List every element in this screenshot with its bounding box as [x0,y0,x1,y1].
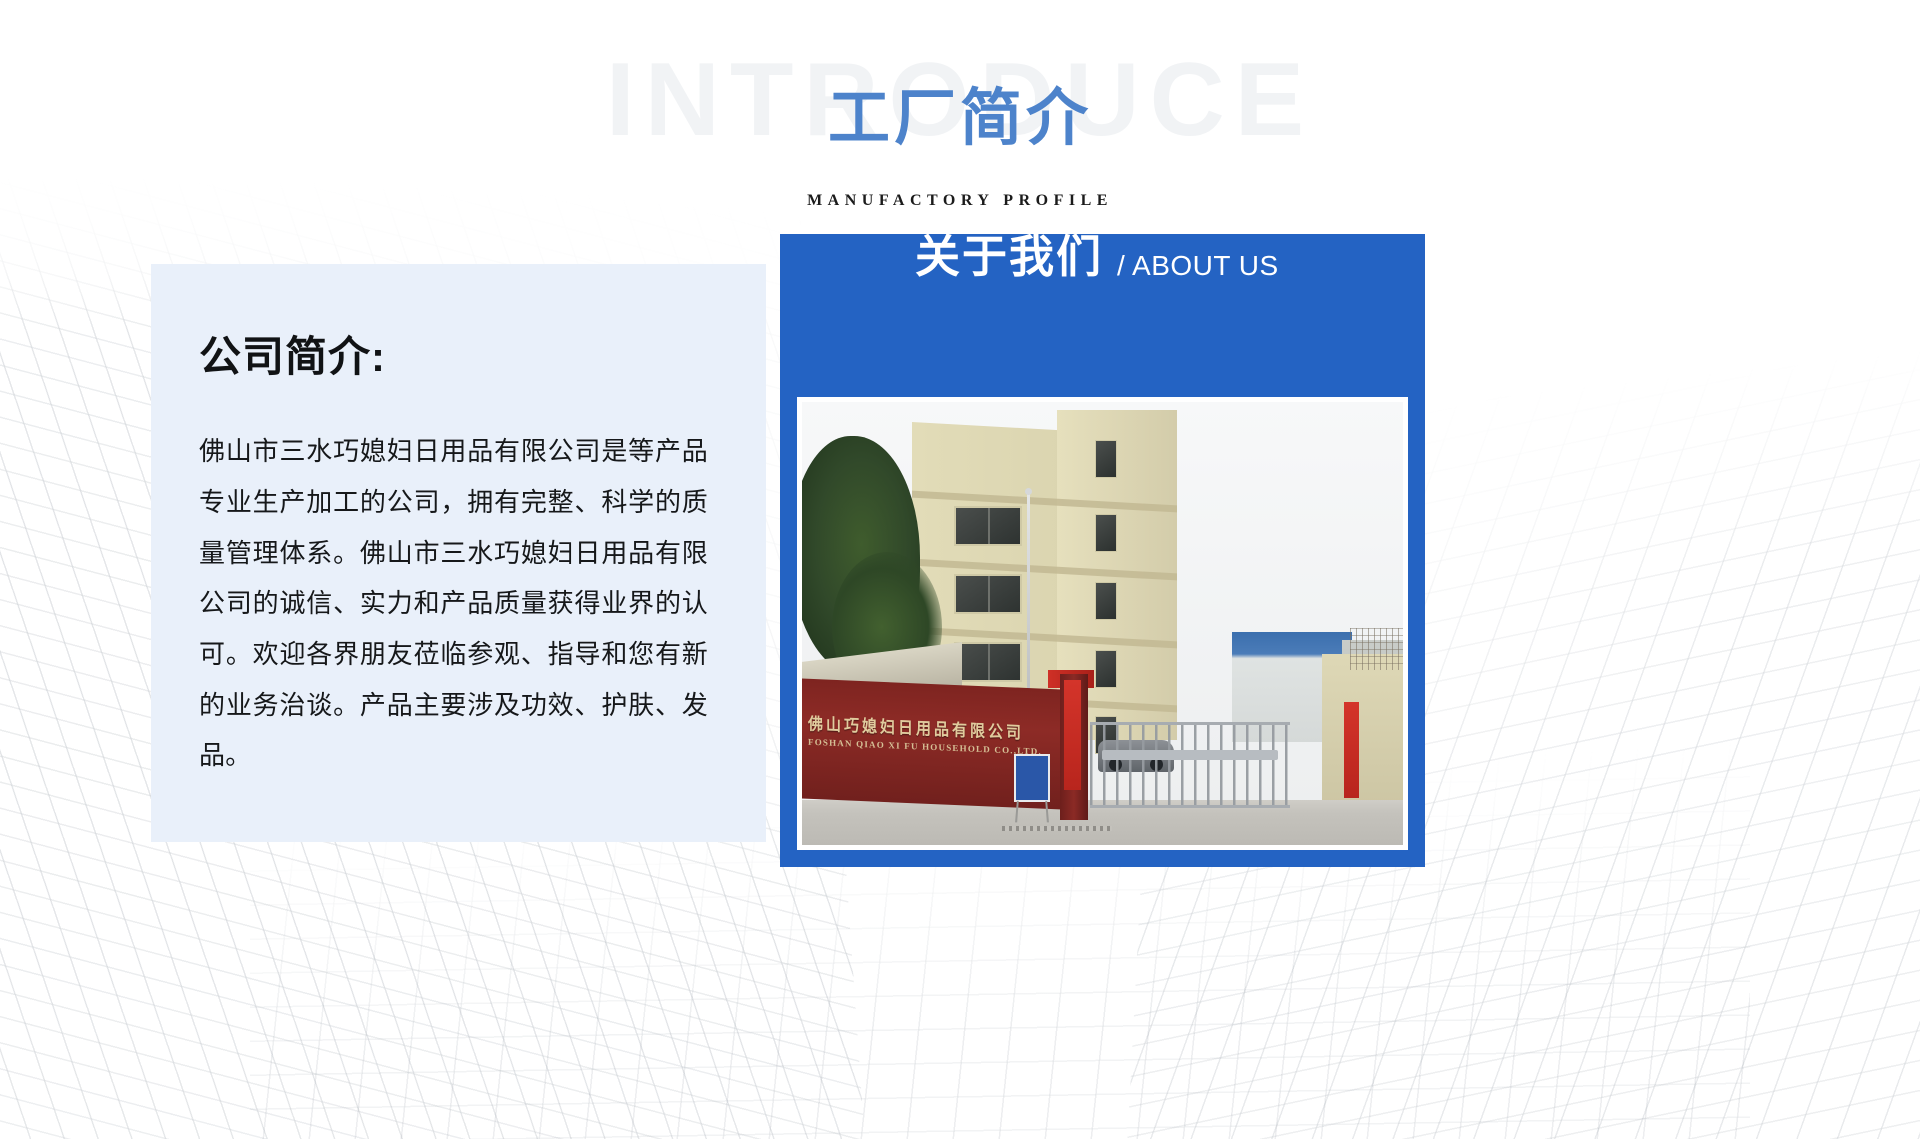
photo-window [954,506,1022,546]
about-us-panel: 关于我们 / ABOUT US [780,234,1425,867]
photo-window [954,642,1022,682]
photo-window [1095,650,1117,688]
about-us-title-cn: 关于我们 [915,234,1103,279]
photo-red-couplet [1064,680,1081,790]
photo-gate-rail [1102,750,1278,760]
photo-window [1095,440,1117,478]
photo-red-couplet [1344,702,1359,798]
photo-gate [1090,722,1290,808]
photo-flagpole [1027,494,1030,716]
photo-background-building [1322,654,1403,804]
photo-scaffolding [1350,628,1403,670]
factory-photo-frame: 佛山巧媳妇日用品有限公司 FOSHAN QIAO XI FU HOUSEHOLD… [797,397,1408,850]
photo-signboard-legs [1015,801,1049,823]
photo-ground-grate [1002,826,1112,831]
factory-photo: 佛山巧媳妇日用品有限公司 FOSHAN QIAO XI FU HOUSEHOLD… [802,402,1403,845]
photo-window [1095,582,1117,620]
about-us-title-en: / ABOUT US [1117,252,1279,280]
company-profile-card: 公司简介: 佛山市三水巧媳妇日用品有限公司是等产品专业生产加工的公司，拥有完整、… [151,264,766,842]
company-profile-heading: 公司简介: [199,334,708,380]
photo-window [1095,514,1117,552]
page-title: 工厂简介 [0,88,1920,150]
page-header: INTRODUCE 工厂简介 MANUFACTORY PROFILE [0,0,1920,230]
about-us-header: 关于我们 / ABOUT US [780,234,1425,398]
photo-signboard [1014,754,1050,802]
company-profile-body: 佛山市三水巧媳妇日用品有限公司是等产品专业生产加工的公司，拥有完整、科学的质量管… [199,426,708,781]
page-subtitle: MANUFACTORY PROFILE [0,192,1920,210]
photo-window [954,574,1022,614]
